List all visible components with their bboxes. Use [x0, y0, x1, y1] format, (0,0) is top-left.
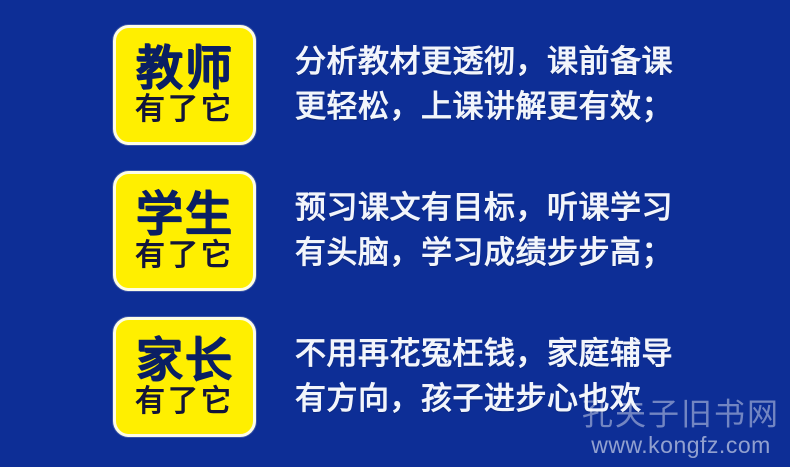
benefit-text-line-2: 有头脑，学习成绩步步高；	[295, 231, 673, 276]
role-badge-student: 学生 有了它	[113, 171, 256, 291]
role-badge-title: 学生	[136, 191, 234, 238]
benefit-text-teacher: 分析教材更透彻，课前备课 更轻松，上课讲解更有效；	[295, 40, 673, 130]
benefit-text-line-2: 更轻松，上课讲解更有效；	[295, 85, 673, 130]
benefit-text-line-1: 分析教材更透彻，课前备课	[295, 40, 673, 85]
role-badge-subtitle: 有了它	[135, 241, 234, 271]
benefit-text-student: 预习课文有目标，听课学习 有头脑，学习成绩步步高；	[295, 186, 673, 276]
role-badge-title: 教师	[136, 45, 234, 92]
role-badge-parent: 家长 有了它	[113, 317, 256, 437]
role-badge-teacher: 教师 有了它	[113, 25, 256, 145]
benefit-row-teacher: 教师 有了它 分析教材更透彻，课前备课 更轻松，上课讲解更有效；	[0, 12, 790, 158]
benefit-text-line-2: 有方向，孩子进步心也欢	[295, 377, 673, 422]
role-badge-title: 家长	[136, 337, 234, 384]
benefit-text-line-1: 预习课文有目标，听课学习	[295, 186, 673, 231]
role-badge-subtitle: 有了它	[135, 387, 234, 417]
benefit-text-parent: 不用再花冤枉钱，家庭辅导 有方向，孩子进步心也欢	[295, 332, 673, 422]
benefit-row-student: 学生 有了它 预习课文有目标，听课学习 有头脑，学习成绩步步高；	[0, 158, 790, 304]
benefit-row-parent: 家长 有了它 不用再花冤枉钱，家庭辅导 有方向，孩子进步心也欢	[0, 304, 790, 450]
benefit-text-line-1: 不用再花冤枉钱，家庭辅导	[295, 332, 673, 377]
role-badge-subtitle: 有了它	[135, 95, 234, 125]
benefit-rows: 教师 有了它 分析教材更透彻，课前备课 更轻松，上课讲解更有效； 学生 有了它 …	[0, 0, 790, 467]
promo-poster: 教师 有了它 分析教材更透彻，课前备课 更轻松，上课讲解更有效； 学生 有了它 …	[0, 0, 790, 467]
